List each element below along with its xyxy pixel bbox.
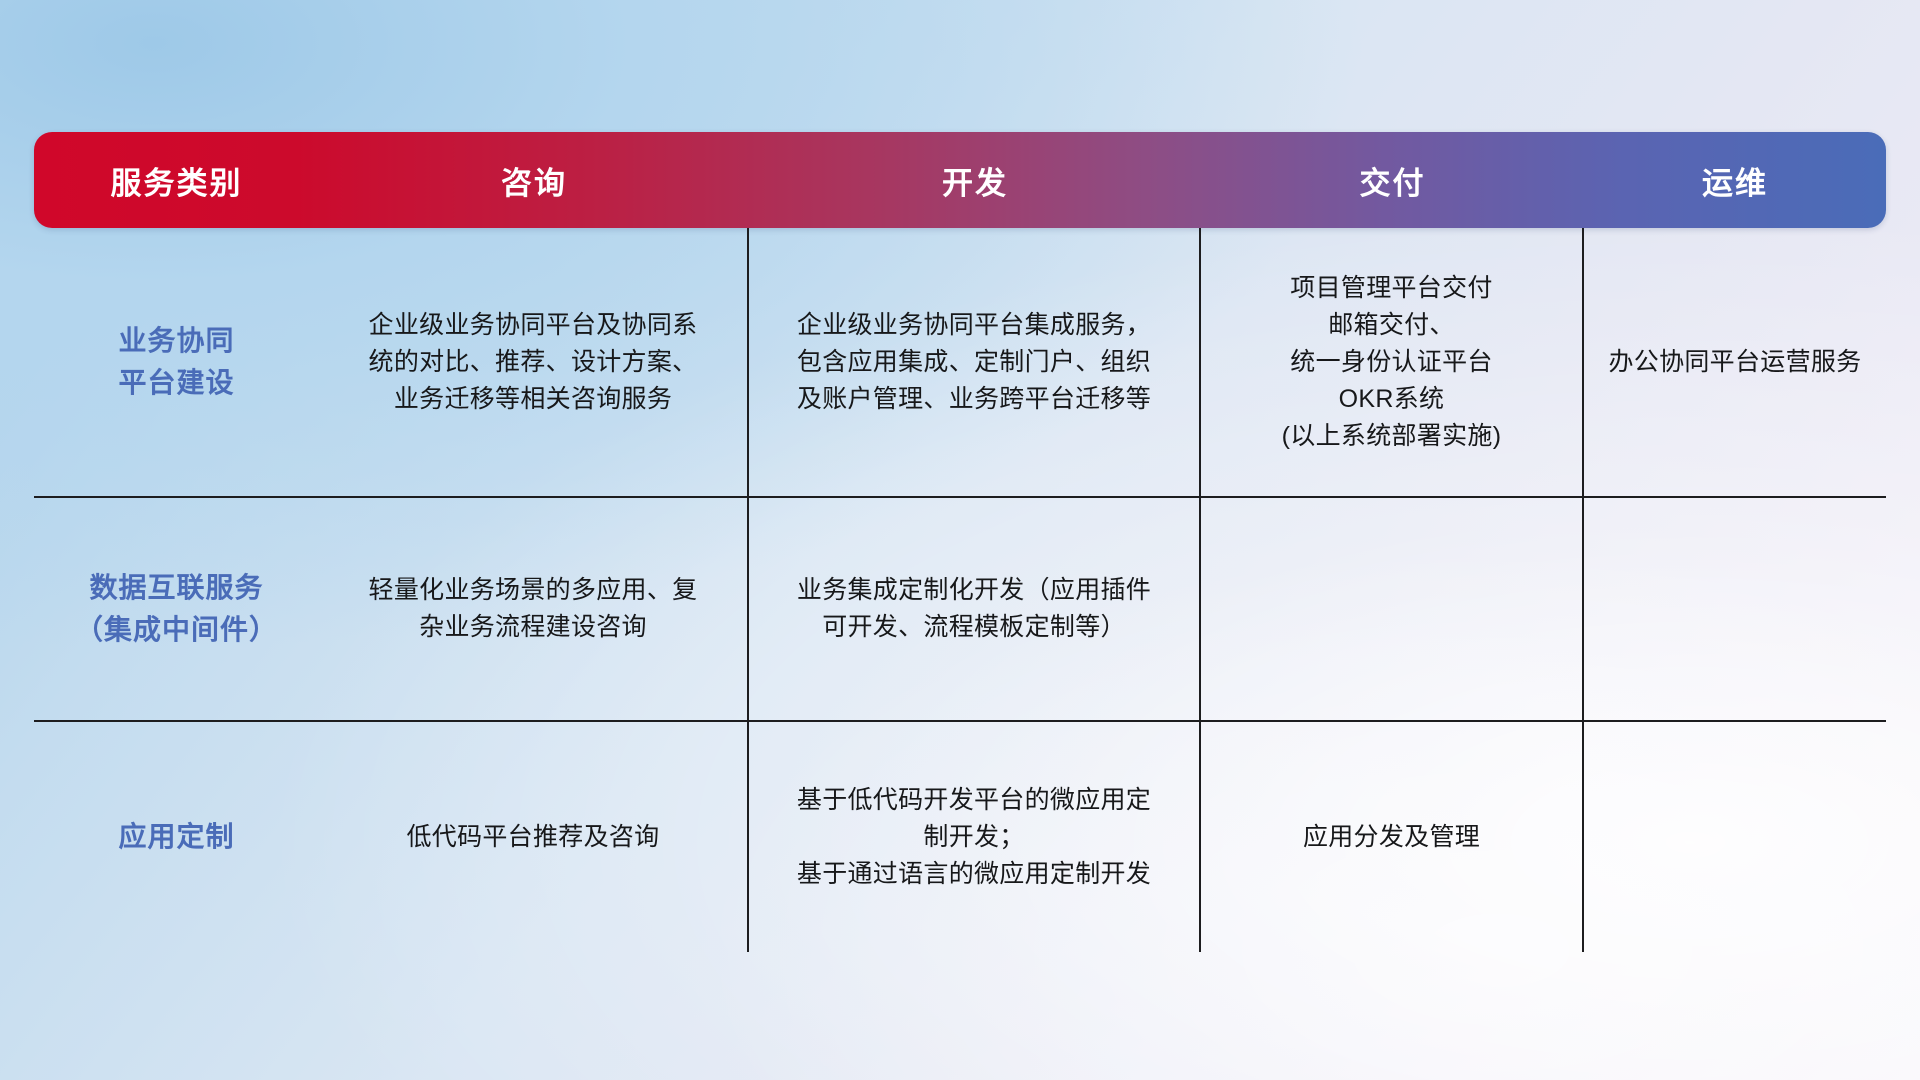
row2-consulting-line1: 轻量化业务场景的多应用、复	[369, 572, 698, 609]
slide-canvas: 服务类别 咨询 开发 交付 运维 业务协同 平台建设 企业级业务协同平台及协同系	[0, 0, 1920, 1080]
row2-development-line1: 业务集成定制化开发（应用插件	[797, 572, 1151, 609]
header-cell-operations: 运维	[1584, 132, 1886, 228]
row3-delivery-text: 应用分发及管理	[1303, 819, 1480, 856]
row3-consulting-text: 低代码平台推荐及咨询	[406, 819, 659, 856]
row1-consulting-line1: 企业级业务协同平台及协同系	[369, 307, 698, 344]
row1-development-line2: 包含应用集成、定制门户、组织	[797, 344, 1151, 381]
row1-development-line3: 及账户管理、业务跨平台迁移等	[797, 381, 1151, 418]
table-row: 业务协同 平台建设 企业级业务协同平台及协同系 统的对比、推荐、设计方案、 业务…	[34, 228, 1886, 496]
table-row: 应用定制 低代码平台推荐及咨询 基于低代码开发平台的微应用定 制开发； 基于通过…	[34, 720, 1886, 952]
header-cell-development: 开发	[749, 132, 1201, 228]
row1-category-line2: 平台建设	[118, 362, 234, 404]
row1-category-line1: 业务协同	[118, 320, 234, 362]
row3-delivery-cell: 应用分发及管理	[1201, 722, 1584, 952]
row1-consulting-line2: 统的对比、推荐、设计方案、	[369, 344, 698, 381]
row1-operations-cell: 办公协同平台运营服务	[1584, 228, 1886, 496]
table-row: 数据互联服务 （集成中间件） 轻量化业务场景的多应用、复 杂业务流程建设咨询 业…	[34, 496, 1886, 720]
row1-delivery-line4: OKR系统	[1282, 381, 1502, 418]
header-cell-service-category: 服务类别	[34, 132, 319, 228]
table-body: 业务协同 平台建设 企业级业务协同平台及协同系 统的对比、推荐、设计方案、 业务…	[34, 228, 1886, 952]
row1-delivery-cell: 项目管理平台交付 邮箱交付、 统一身份认证平台 OKR系统 (以上系统部署实施)	[1201, 228, 1584, 496]
row3-operations-cell	[1584, 722, 1886, 952]
row3-development-line3: 基于通过语言的微应用定制开发	[797, 856, 1151, 893]
row2-category-line1: 数据互联服务	[75, 567, 278, 609]
row1-delivery-line3: 统一身份认证平台	[1282, 344, 1502, 381]
row2-delivery-cell	[1201, 498, 1584, 720]
row3-consulting-cell: 低代码平台推荐及咨询	[319, 722, 749, 952]
row3-development-line2: 制开发；	[797, 819, 1151, 856]
row1-delivery-line1: 项目管理平台交付	[1282, 270, 1502, 307]
row2-development-line2: 可开发、流程模板定制等）	[797, 609, 1151, 646]
row3-development-line1: 基于低代码开发平台的微应用定	[797, 782, 1151, 819]
row1-category-cell: 业务协同 平台建设	[34, 228, 319, 496]
row3-category-line1: 应用定制	[118, 816, 234, 858]
row1-development-cell: 企业级业务协同平台集成服务， 包含应用集成、定制门户、组织 及账户管理、业务跨平…	[749, 228, 1201, 496]
row2-category-cell: 数据互联服务 （集成中间件）	[34, 498, 319, 720]
row3-development-cell: 基于低代码开发平台的微应用定 制开发； 基于通过语言的微应用定制开发	[749, 722, 1201, 952]
row1-consulting-line3: 业务迁移等相关咨询服务	[369, 381, 698, 418]
row1-operations-text: 办公协同平台运营服务	[1608, 344, 1861, 381]
table-header-row: 服务类别 咨询 开发 交付 运维	[34, 132, 1886, 228]
row2-consulting-cell: 轻量化业务场景的多应用、复 杂业务流程建设咨询	[319, 498, 749, 720]
row2-consulting-line2: 杂业务流程建设咨询	[369, 609, 698, 646]
row1-delivery-line2: 邮箱交付、	[1282, 307, 1502, 344]
header-cell-delivery: 交付	[1201, 132, 1584, 228]
row1-development-line1: 企业级业务协同平台集成服务，	[797, 307, 1151, 344]
row2-operations-cell	[1584, 498, 1886, 720]
row2-development-cell: 业务集成定制化开发（应用插件 可开发、流程模板定制等）	[749, 498, 1201, 720]
row3-category-cell: 应用定制	[34, 722, 319, 952]
row1-delivery-line5: (以上系统部署实施)	[1282, 418, 1502, 455]
service-matrix-table: 服务类别 咨询 开发 交付 运维 业务协同 平台建设 企业级业务协同平台及协同系	[34, 132, 1886, 952]
row2-category-line2: （集成中间件）	[75, 609, 278, 651]
header-cell-consulting: 咨询	[319, 132, 749, 228]
row1-consulting-cell: 企业级业务协同平台及协同系 统的对比、推荐、设计方案、 业务迁移等相关咨询服务	[319, 228, 749, 496]
